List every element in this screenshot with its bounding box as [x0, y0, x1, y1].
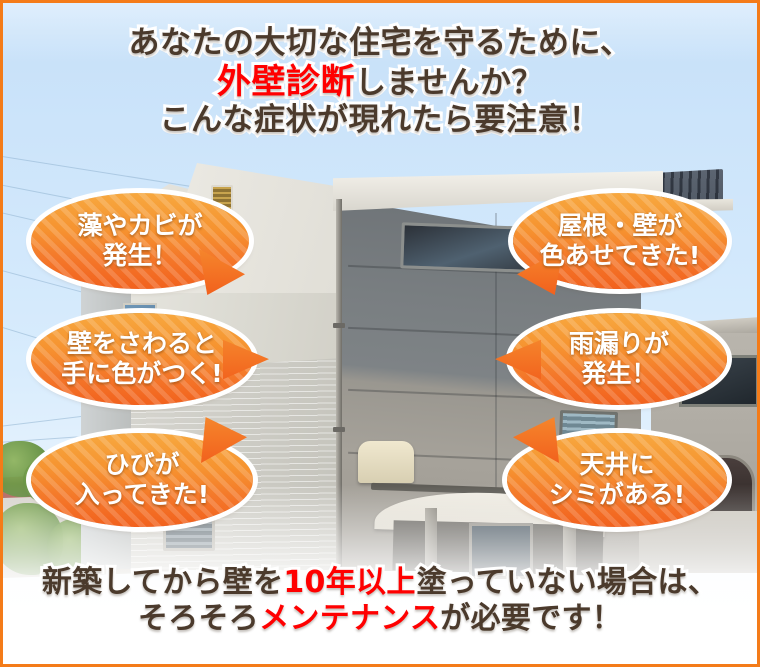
downspout-band — [333, 323, 345, 328]
symptom-bubble-fading[interactable]: 屋根・壁が 色あせてきた! — [513, 193, 727, 289]
symptom-bubble-color-transfer-label: 壁をさわると 手に色がつく! — [55, 329, 228, 389]
footer-line-1-b: 塗っていない場合は、 — [417, 565, 719, 600]
air-conditioner-unit — [358, 441, 414, 483]
headline-line-2: 外壁診断しませんか？ — [3, 62, 757, 102]
symptom-bubble-moss-label: 藻やカビが 発生！ — [71, 211, 208, 271]
symptom-bubble-leak[interactable]: 雨漏りが 発生！ — [511, 313, 727, 405]
headline-keyword-red: 外壁診断 — [217, 62, 355, 102]
headline-line-2-rest: しませんか？ — [355, 65, 543, 101]
downspout-band — [333, 427, 345, 432]
exterior-diagnosis-banner: あなたの大切な住宅を守るために、 外壁診断しませんか？ こんな症状が現れたら要注… — [0, 0, 760, 667]
symptom-bubble-ceiling-stain[interactable]: 天井に シミがある! — [507, 433, 727, 527]
footer-line-2-a: そろそろ — [138, 601, 259, 636]
headline-line-1: あなたの大切な住宅を守るために、 — [3, 25, 757, 62]
footer-message: 新築してから壁を10年以上塗っていない場合は、 そろそろメンテナンスが必要です！ — [3, 565, 757, 638]
footer-line-1-a: 新築してから壁を — [42, 565, 284, 600]
headline-line-3: こんな症状が現れたら要注意！ — [3, 102, 757, 139]
footer-keyword-years: 10年以上 — [283, 565, 416, 600]
headline: あなたの大切な住宅を守るために、 外壁診断しませんか？ こんな症状が現れたら要注… — [3, 25, 757, 138]
footer-line-1: 新築してから壁を10年以上塗っていない場合は、 — [3, 565, 757, 602]
footer-line-2: そろそろメンテナンスが必要です！ — [3, 601, 757, 638]
footer-keyword-maintenance: メンテナンス — [259, 601, 440, 636]
footer-line-2-b: が必要です！ — [440, 601, 622, 636]
symptom-bubble-leak-label: 雨漏りが 発生！ — [563, 329, 675, 389]
symptom-bubble-ceiling-stain-label: 天井に シミがある! — [543, 450, 691, 510]
symptom-bubble-fading-label: 屋根・壁が 色あせてきた! — [534, 211, 707, 271]
symptom-bubble-crack-label: ひびが 入ってきた! — [69, 450, 215, 510]
symptom-bubble-color-transfer[interactable]: 壁をさわると 手に色がつく! — [31, 313, 253, 405]
symptom-bubble-crack[interactable]: ひびが 入ってきた! — [31, 433, 253, 527]
symptom-bubble-moss[interactable]: 藻やカビが 発生！ — [31, 193, 249, 289]
